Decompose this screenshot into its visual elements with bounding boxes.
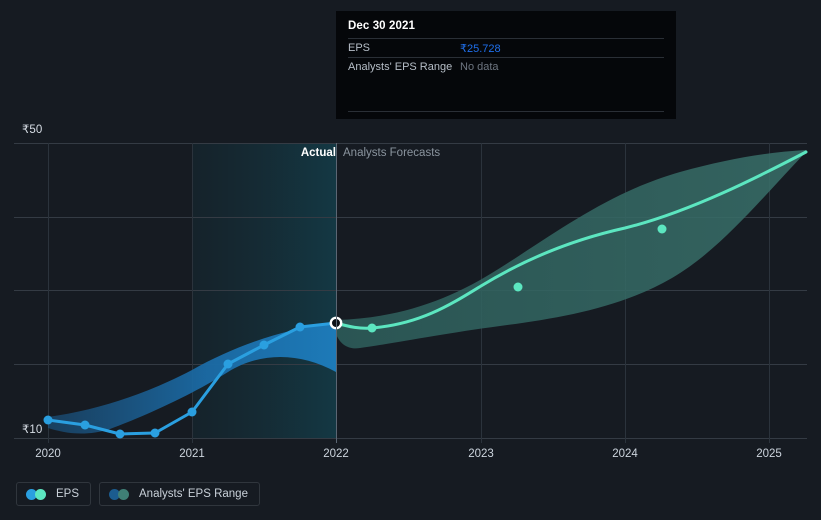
legend-item-analysts-eps-range[interactable]: Analysts' EPS Range <box>99 482 260 506</box>
legend-item-eps-label: EPS <box>56 488 79 500</box>
x-axis-tick-2023: 2023 <box>468 448 494 460</box>
x-axis-tick-2025: 2025 <box>756 448 782 460</box>
tooltip-row-range: Analysts' EPS Range No data <box>348 57 664 76</box>
dual-dot-icon-range <box>109 489 131 500</box>
legend-item-eps[interactable]: EPS <box>16 482 91 506</box>
x-axis-tick-2024: 2024 <box>612 448 638 460</box>
eps-forecast-chart: ₹50 ₹10 2020 2021 2022 2023 2024 2025 Ac… <box>0 0 821 520</box>
tooltip-row-range-key: Analysts' EPS Range <box>348 61 460 73</box>
tooltip-row-eps-key: EPS <box>348 42 460 54</box>
tooltip-date: Dec 30 2021 <box>348 20 664 32</box>
x-axis-tick-2020: 2020 <box>35 448 61 460</box>
analyst-range-band-forecast <box>336 150 806 348</box>
tooltip-row-range-value: No data <box>460 61 499 73</box>
tooltip-row-eps: EPS ₹25.728 <box>348 38 664 57</box>
legend: EPS Analysts' EPS Range <box>16 482 260 506</box>
tooltip-footer-divider <box>348 111 664 112</box>
forecast-period-label: Analysts Forecasts <box>343 147 440 159</box>
tooltip-spacer <box>348 76 664 111</box>
hover-tooltip: Dec 30 2021 EPS ₹25.728 Analysts' EPS Ra… <box>336 11 676 119</box>
legend-item-analysts-eps-range-label: Analysts' EPS Range <box>139 488 248 500</box>
tooltip-row-eps-value: ₹25.728 <box>460 42 501 55</box>
actual-period-label: Actual <box>301 147 336 159</box>
x-axis-tick-2022: 2022 <box>323 448 349 460</box>
x-axis-tick-2021: 2021 <box>179 448 205 460</box>
dual-dot-icon-eps <box>26 489 48 500</box>
y-axis-label-max: ₹50 <box>22 122 42 136</box>
y-axis-label-min: ₹10 <box>22 422 42 436</box>
